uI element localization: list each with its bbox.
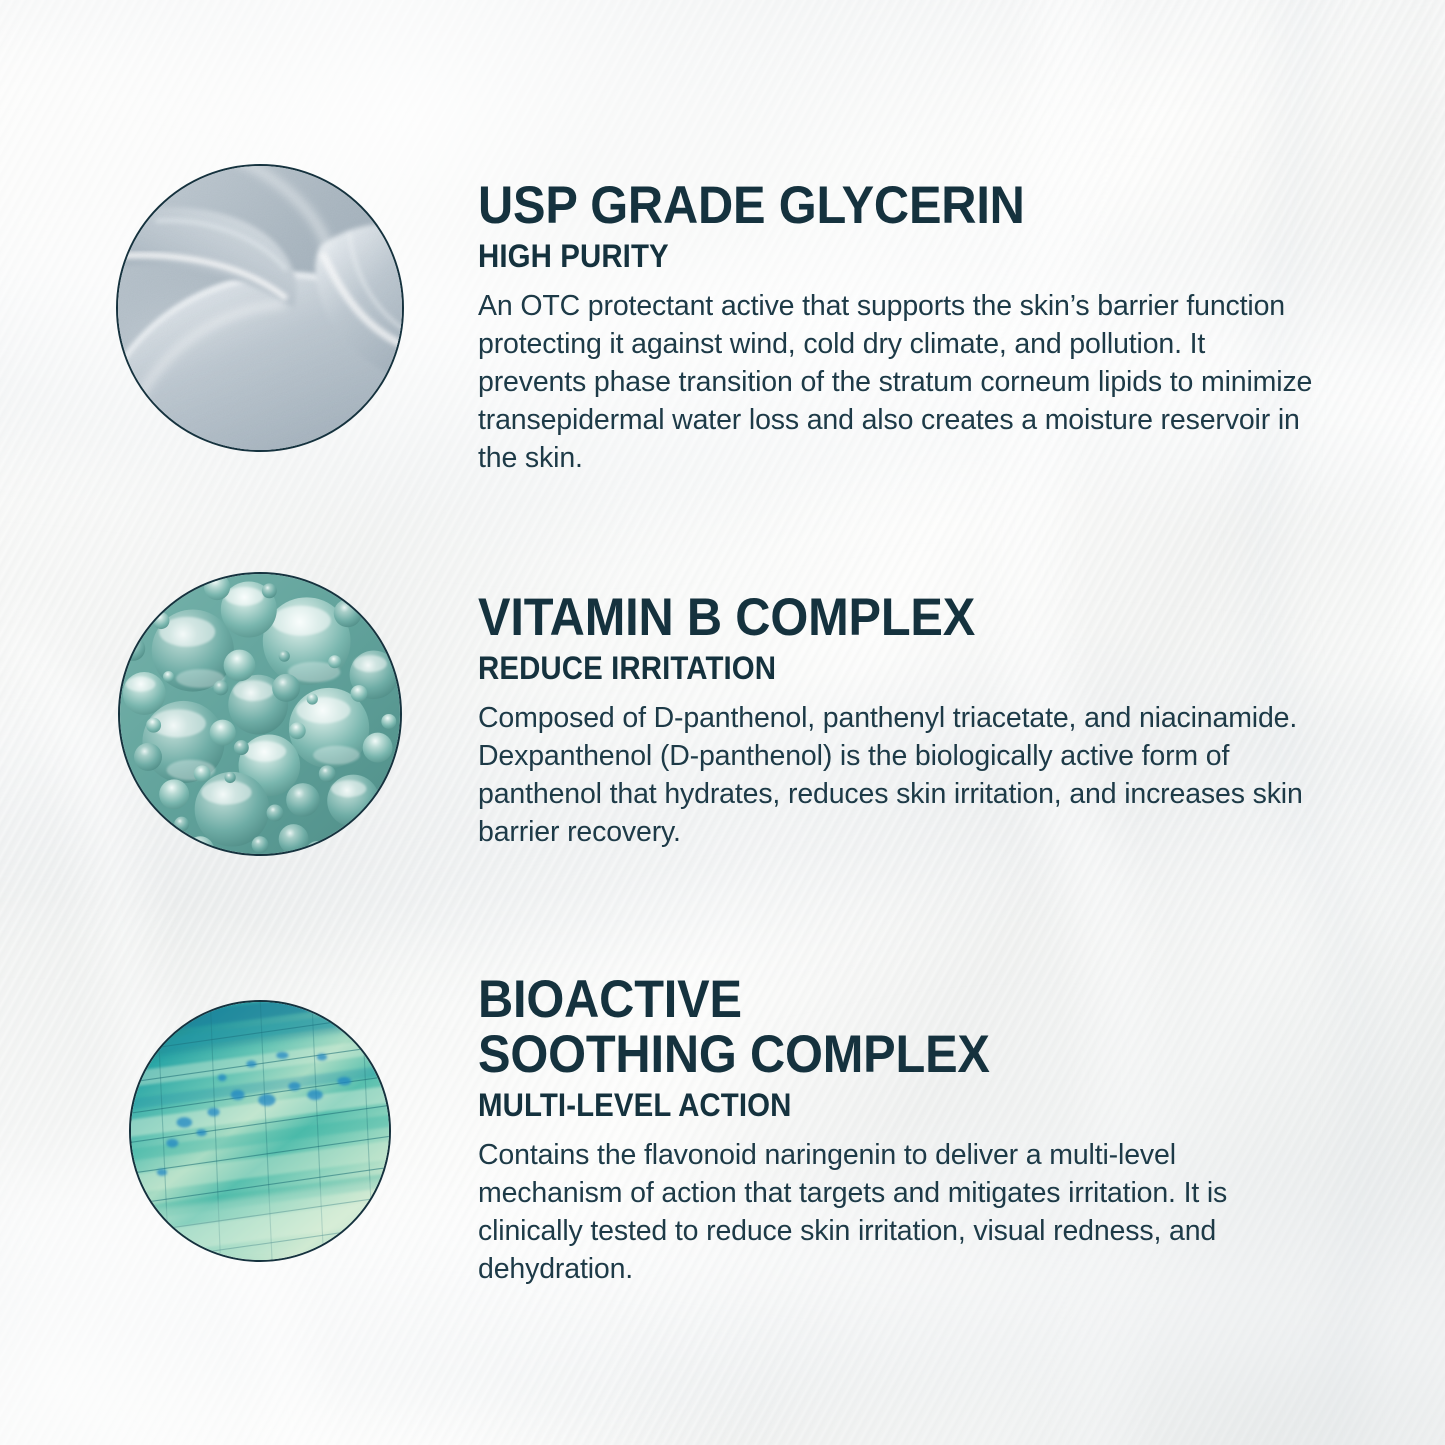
section-body: Composed of D-panthenol, panthenyl triac…: [478, 700, 1358, 852]
ingredient-image-bioactive-soothing-complex: [129, 1000, 391, 1262]
ingredient-image-usp-grade-glycerin: [116, 164, 404, 452]
silver-gel-droplets-swatch: [118, 166, 402, 450]
ingredient-benefits-infographic: USP GRADE GLYCERIN HIGH PURITY An OTC pr…: [0, 0, 1445, 1445]
section-body: Contains the flavonoid naringenin to del…: [478, 1137, 1288, 1289]
plant-tissue-microscopy-swatch: [131, 1002, 389, 1260]
section-subtitle: MULTI-LEVEL ACTION: [478, 1088, 1223, 1123]
section-subtitle: REDUCE IRRITATION: [478, 651, 1288, 686]
ingredient-image-vitamin-b-complex: [118, 572, 402, 856]
section-body: An OTC protectant active that supports t…: [478, 288, 1318, 477]
section-title: BIOACTIVE SOOTHING COMPLEX: [478, 972, 1223, 1082]
section-title: USP GRADE GLYCERIN: [478, 178, 1251, 233]
section-title: VITAMIN B COMPLEX: [478, 590, 1288, 645]
section-subtitle: HIGH PURITY: [478, 239, 1251, 274]
section-text-usp-grade-glycerin: USP GRADE GLYCERIN HIGH PURITY An OTC pr…: [478, 178, 1318, 478]
section-text-vitamin-b-complex: VITAMIN B COMPLEX REDUCE IRRITATION Comp…: [478, 590, 1358, 852]
section-text-bioactive-soothing-complex: BIOACTIVE SOOTHING COMPLEX MULTI-LEVEL A…: [478, 972, 1288, 1289]
teal-bubbles-swatch: [120, 574, 400, 854]
